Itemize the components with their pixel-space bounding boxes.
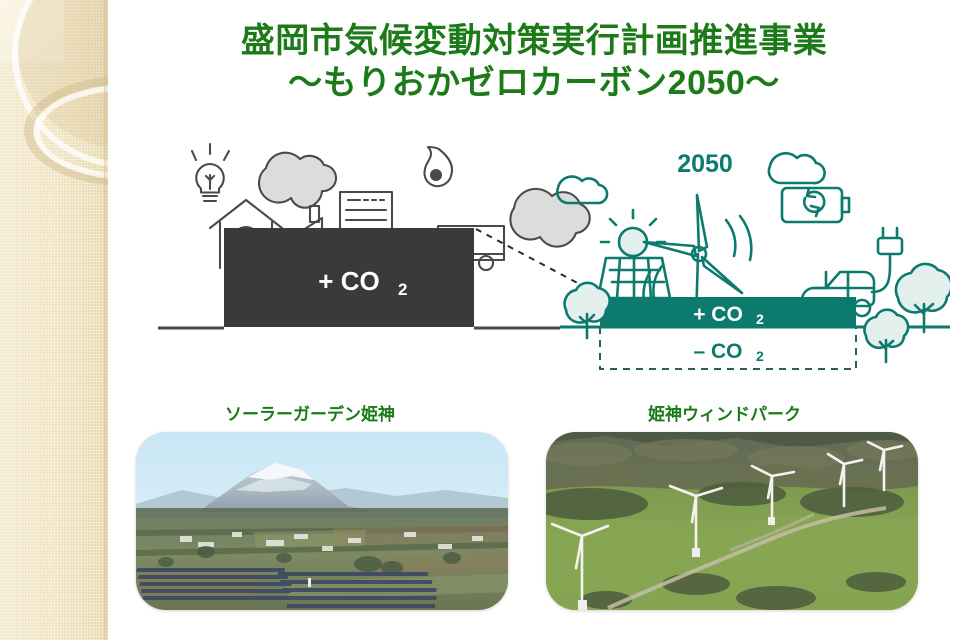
- svg-text:– CO: – CO: [693, 340, 742, 363]
- tree-icon-2: [864, 310, 908, 362]
- year-2050-label: 2050: [677, 150, 733, 178]
- slide-title: 盛岡市気候変動対策実行計画推進事業 ～もりおかゼロカーボン2050～: [108, 22, 960, 102]
- svg-text:2: 2: [756, 348, 764, 364]
- caption-wind-park: 姫神ウィンドパーク: [648, 400, 801, 425]
- smoke-cloud-icon: [259, 153, 336, 208]
- svg-text:+ CO: + CO: [693, 303, 743, 326]
- caption-solar-garden: ソーラーガーデン姫神: [225, 400, 395, 425]
- svg-text:2: 2: [756, 311, 764, 327]
- cloud-icon-right: [769, 153, 825, 183]
- carbon-neutral-diagram: .gl{fill:none;stroke:#4a4a4a;stroke-widt…: [150, 130, 950, 390]
- himekami-wind-park-photo: [546, 432, 918, 610]
- slide-canvas: 盛岡市気候変動対策実行計画推進事業 ～もりおかゼロカーボン2050～ .gl{f…: [0, 0, 960, 640]
- smoke-cloud-large-icon: [510, 189, 589, 247]
- svg-text:+ CO: + CO: [318, 266, 379, 296]
- lightbulb-icon: [192, 144, 229, 201]
- title-line-1: 盛岡市気候変動対策実行計画推進事業: [108, 22, 960, 60]
- svg-text:2: 2: [398, 280, 407, 299]
- solar-garden-himekami-photo: [136, 432, 508, 610]
- absorption-label: – CO 2: [693, 340, 764, 364]
- title-line-2: ～もりおかゼロカーボン2050～: [108, 64, 960, 102]
- battery-recycle-icon: [782, 188, 849, 222]
- flame-icon: [424, 147, 451, 186]
- tree-icon-1: [565, 283, 610, 338]
- decorative-side-band: [0, 0, 108, 640]
